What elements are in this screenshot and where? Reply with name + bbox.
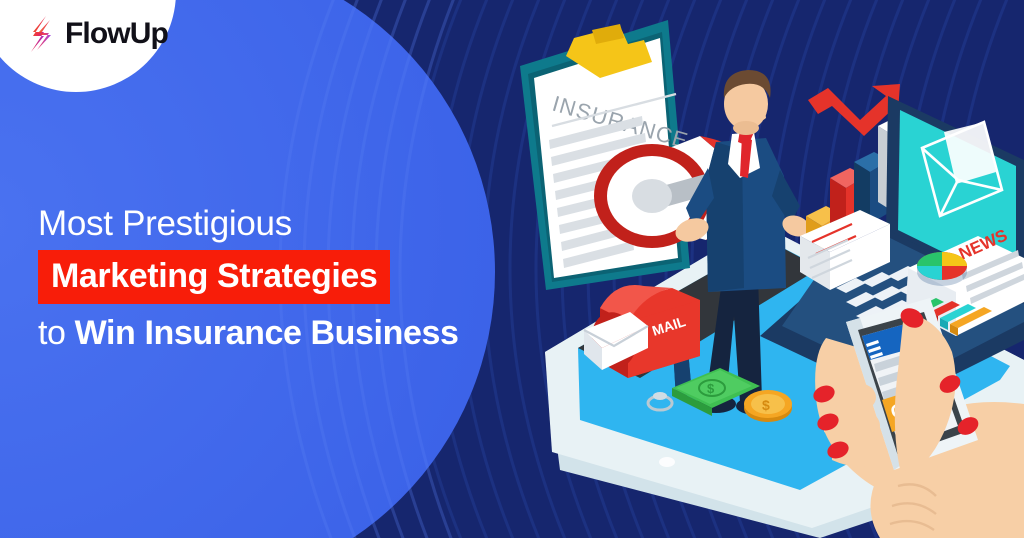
headline-line-3-light: to: [38, 314, 75, 352]
headline-highlight: Marketing Strategies: [38, 250, 390, 304]
flowup-chevron-logo-icon: [24, 14, 58, 54]
headline-line-1: Most Prestigious: [38, 206, 508, 241]
marketing-banner: FlowUp INSURANCE: [0, 0, 1024, 538]
bill-symbol: $: [707, 381, 715, 396]
headline-block: Most Prestigious Marketing Strategies to…: [38, 206, 508, 350]
headline-line-3-bold: Win Insurance Business: [75, 314, 459, 352]
coin-symbol: $: [762, 397, 770, 413]
brand-logo[interactable]: FlowUp: [24, 14, 168, 54]
headline-line-2: Marketing Strategies: [51, 257, 377, 295]
headline-line-3: to Win Insurance Business: [38, 316, 508, 350]
brand-name: FlowUp: [65, 19, 168, 49]
pie-chart: [917, 252, 967, 286]
